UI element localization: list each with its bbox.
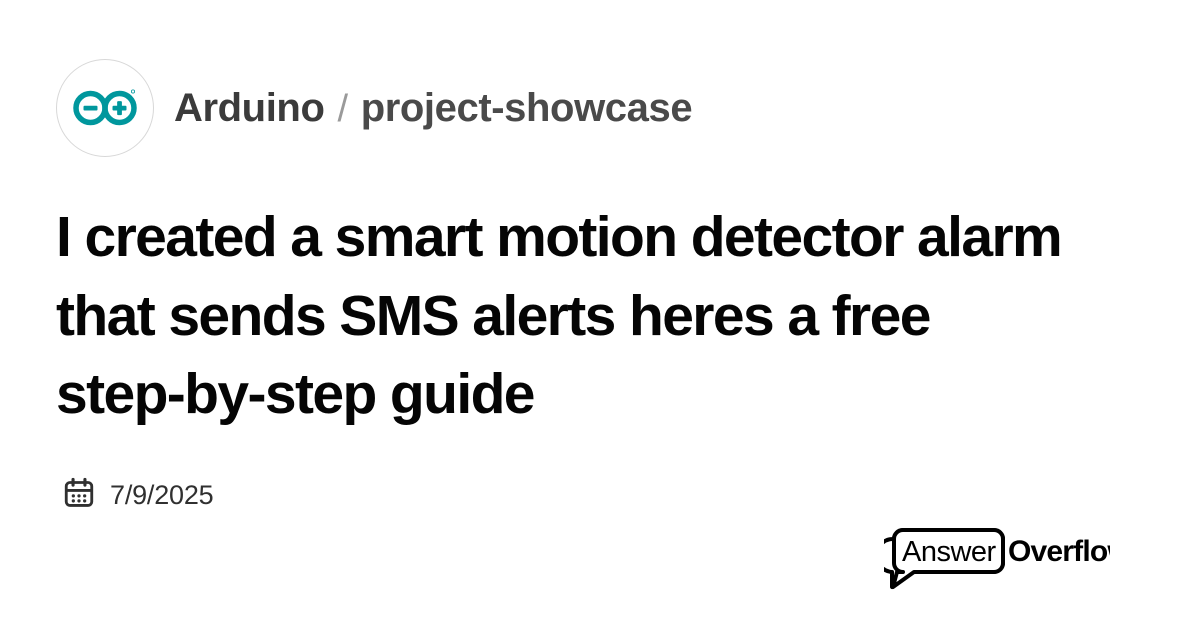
post-date: 7/9/2025 xyxy=(62,476,214,515)
breadcrumb-server-name[interactable]: Arduino xyxy=(174,86,325,131)
watermark-answer-text: Answer xyxy=(902,536,997,568)
avatar xyxy=(56,59,154,157)
breadcrumb-channel-name[interactable]: project-showcase xyxy=(361,86,693,131)
card-footer: 7/9/2025 Answer Overflow xyxy=(56,470,1144,590)
breadcrumb-labels: Arduino / project-showcase xyxy=(174,86,692,131)
watermark-overflow-text: Overflow xyxy=(1008,535,1110,568)
post-date-label: 7/9/2025 xyxy=(110,480,214,511)
calendar-icon xyxy=(62,476,96,515)
arduino-infinity-logo-icon xyxy=(72,87,138,129)
breadcrumb-separator: / xyxy=(338,88,348,131)
layout-spacer xyxy=(56,434,1144,470)
page-title: I created a smart motion detector alarm … xyxy=(56,198,1066,434)
breadcrumb: Arduino / project-showcase xyxy=(56,56,1144,160)
answer-overflow-watermark[interactable]: Answer Overflow xyxy=(884,518,1110,590)
open-graph-card: Arduino / project-showcase I created a s… xyxy=(0,0,1200,630)
